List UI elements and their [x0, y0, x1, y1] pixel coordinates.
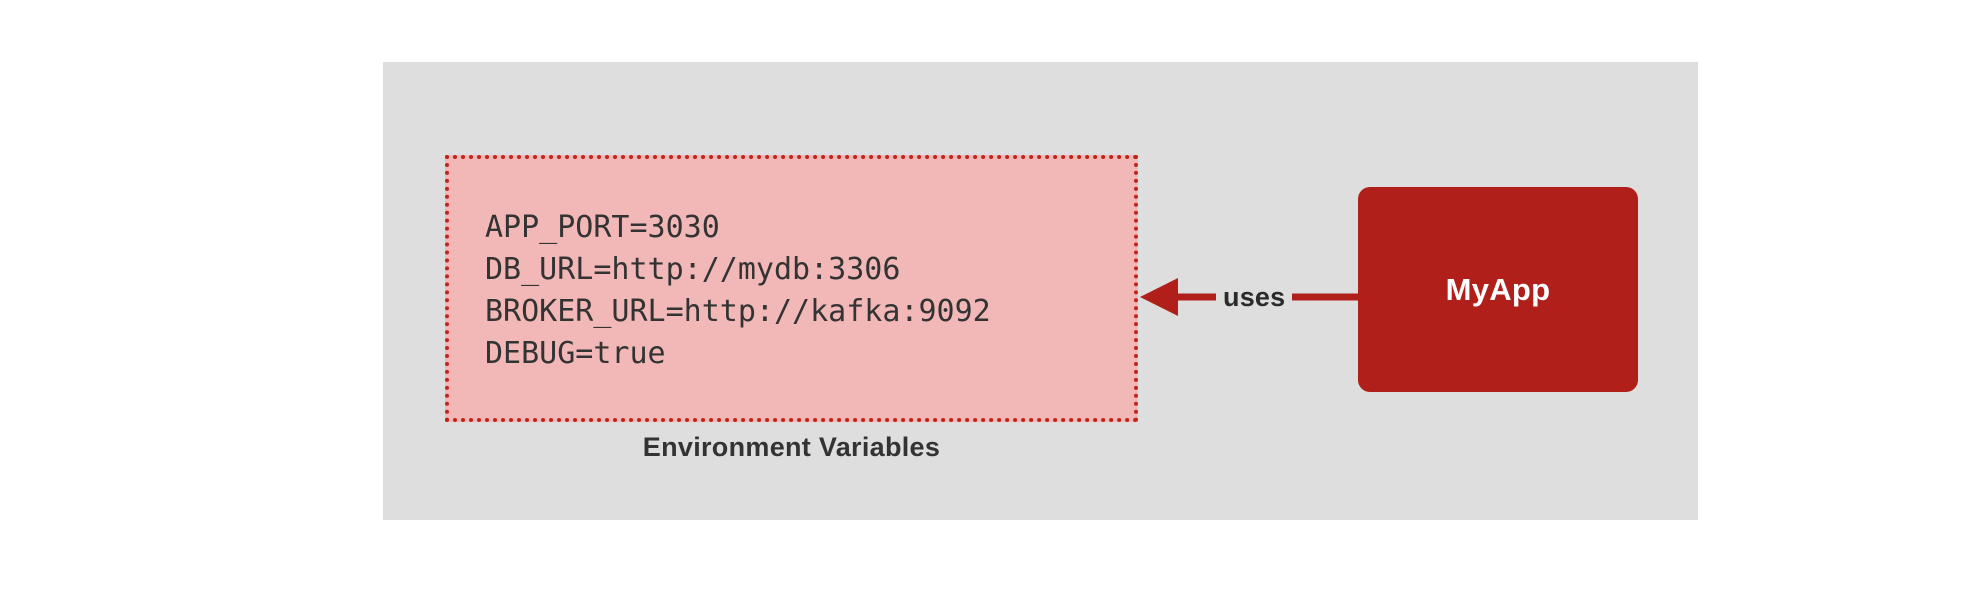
node-myapp[interactable]: MyApp	[1358, 187, 1638, 392]
node-environment-variables[interactable]: APP_PORT=3030 DB_URL=http://mydb:3306 BR…	[445, 155, 1138, 422]
environment-variables-code: APP_PORT=3030 DB_URL=http://mydb:3306 BR…	[485, 207, 991, 375]
edge-label-uses: uses	[1216, 279, 1292, 315]
node-label-environment-variables: Environment Variables	[445, 432, 1138, 463]
node-label-myapp: MyApp	[1446, 272, 1551, 308]
diagram-canvas: APP_PORT=3030 DB_URL=http://mydb:3306 BR…	[0, 0, 1982, 594]
